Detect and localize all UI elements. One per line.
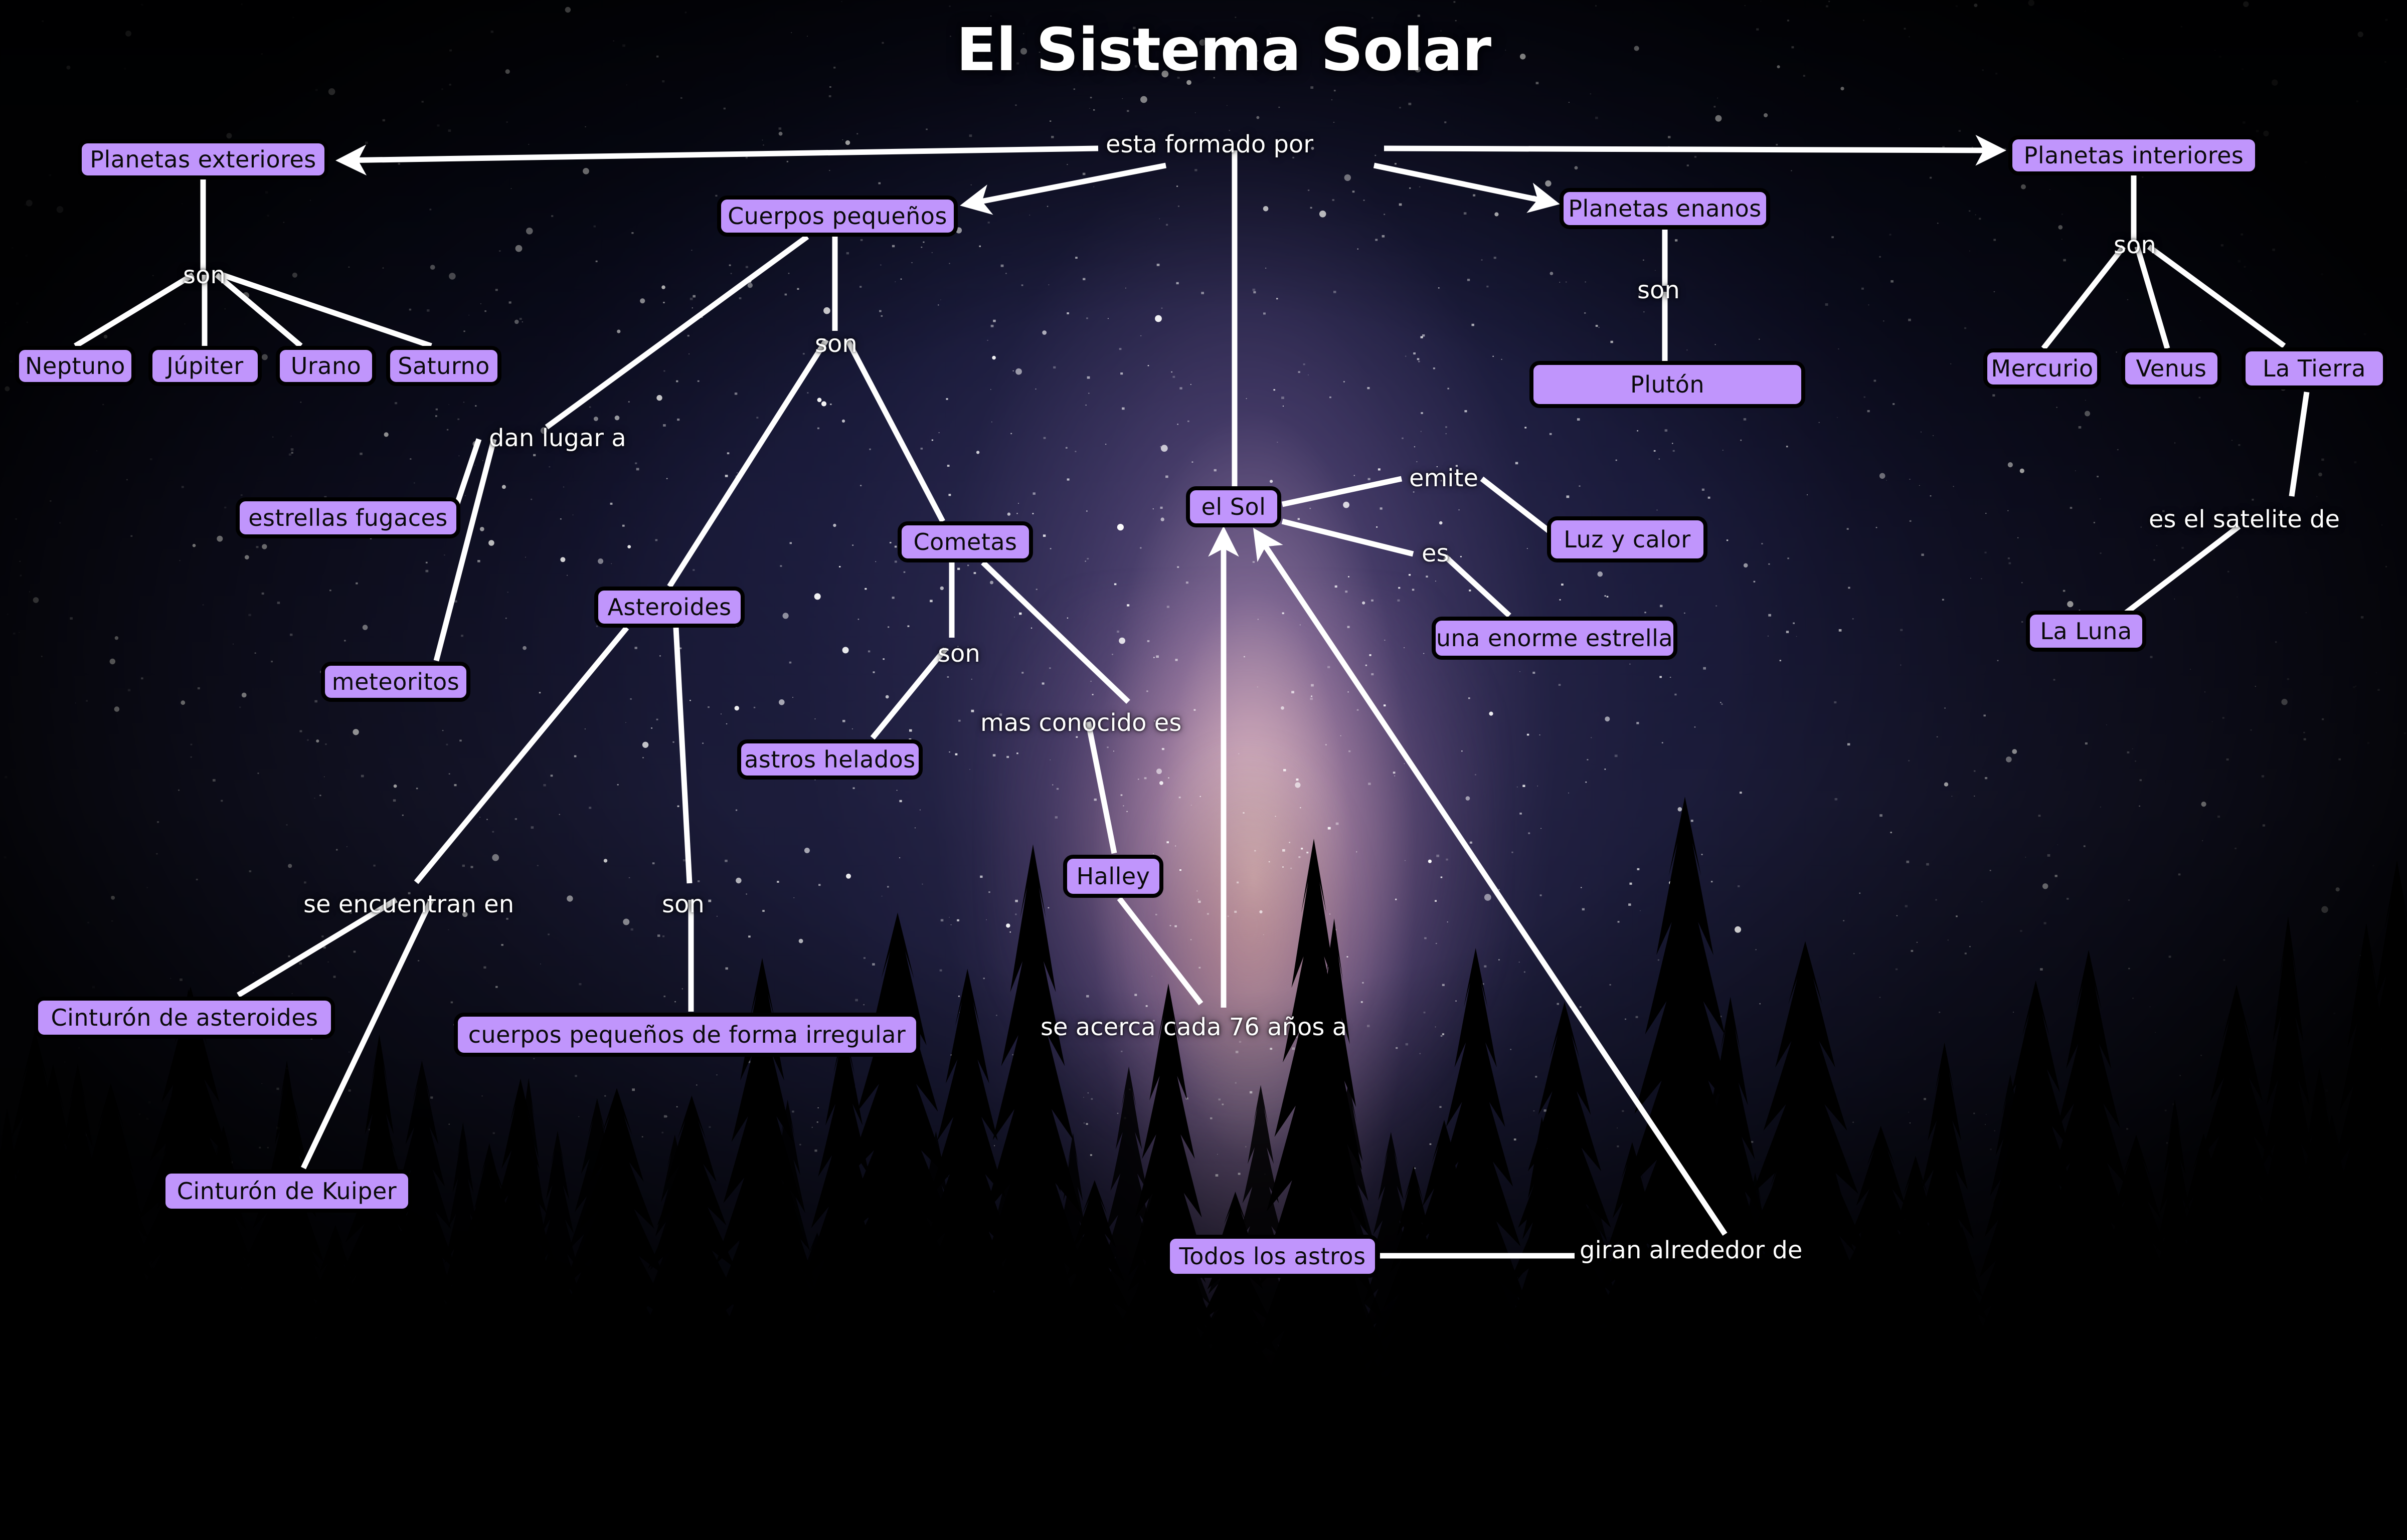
node-planetas_exteriores[interactable]: Planetas exteriores — [78, 139, 328, 179]
node-label: Júpiter — [166, 354, 243, 377]
node-label: Planetas enanos — [1568, 197, 1761, 220]
node-meteoritos[interactable]: meteoritos — [321, 662, 470, 702]
node-halley[interactable]: Halley — [1063, 855, 1163, 898]
node-una_enorme_estrella[interactable]: una enorme estrella — [1432, 617, 1677, 660]
node-astros_helados[interactable]: astros helados — [737, 739, 923, 780]
node-label: La Luna — [2040, 620, 2132, 643]
node-label: Planetas interiores — [2024, 144, 2244, 167]
node-label: Venus — [2136, 357, 2207, 380]
link-label-son_enanos: son — [1637, 278, 1680, 302]
node-la_tierra[interactable]: La Tierra — [2242, 347, 2387, 390]
link-label-son_cuerpos: son — [815, 332, 857, 356]
concept-map-canvas: El Sistema Solar Planetas exterioresCuer… — [0, 0, 2407, 1540]
node-pluton[interactable]: Plutón — [1529, 361, 1805, 408]
node-label: Saturno — [398, 354, 489, 377]
node-label: Planetas exteriores — [90, 148, 316, 171]
node-todos_los_astros[interactable]: Todos los astros — [1166, 1235, 1379, 1278]
link-label-emite: emite — [1409, 466, 1478, 490]
node-venus[interactable]: Venus — [2121, 348, 2221, 389]
node-label: una enorme estrella — [1436, 627, 1673, 650]
node-cometas[interactable]: Cometas — [898, 521, 1033, 562]
link-label-giran_alrededor_de: giran alrededor de — [1580, 1238, 1802, 1262]
node-cinturon_kuiper[interactable]: Cinturón de Kuiper — [161, 1170, 412, 1213]
node-asteroides[interactable]: Asteroides — [594, 587, 745, 628]
node-label: el Sol — [1201, 495, 1266, 518]
node-neptuno[interactable]: Neptuno — [15, 346, 135, 386]
node-label: Urano — [291, 354, 362, 377]
node-label: Mercurio — [1991, 357, 2093, 380]
node-estrellas_fugaces[interactable]: estrellas fugaces — [236, 497, 460, 538]
node-cuerpos_pequenos[interactable]: Cuerpos pequeños — [717, 196, 958, 237]
node-label: estrellas fugaces — [248, 506, 448, 529]
link-label-son_cometas: son — [938, 642, 980, 666]
node-label: Luz y calor — [1564, 528, 1690, 551]
node-label: Todos los astros — [1179, 1245, 1365, 1268]
node-planetas_interiores[interactable]: Planetas interiores — [2008, 135, 2259, 175]
link-label-esta_formado_por: esta formado por — [1106, 132, 1313, 156]
link-label-son_exteriores: son — [183, 263, 226, 287]
node-label: astros helados — [744, 748, 916, 771]
node-label: Halley — [1077, 865, 1150, 888]
link-label-son_asteroides: son — [662, 892, 705, 916]
node-el_sol[interactable]: el Sol — [1186, 486, 1281, 527]
link-label-se_encuentran_en: se encuentran en — [303, 892, 514, 916]
node-cinturon_asteroides[interactable]: Cinturón de asteroides — [34, 997, 335, 1039]
page-title: El Sistema Solar — [893, 15, 1555, 84]
node-jupiter[interactable]: Júpiter — [148, 346, 262, 386]
node-label: meteoritos — [332, 670, 459, 693]
node-label: La Tierra — [2263, 357, 2366, 380]
link-label-dan_lugar_a: dan lugar a — [489, 426, 626, 450]
node-label: cuerpos pequeños de forma irregular — [468, 1023, 906, 1046]
node-mercurio[interactable]: Mercurio — [1983, 348, 2101, 389]
node-urano[interactable]: Urano — [276, 346, 376, 386]
link-label-es: es — [1422, 541, 1449, 565]
link-label-se_acerca_76: se acerca cada 76 años a — [1041, 1015, 1347, 1039]
link-label-mas_conocido_es: mas conocido es — [980, 711, 1181, 735]
node-planetas_enanos[interactable]: Planetas enanos — [1560, 188, 1770, 229]
node-label: Cinturón de asteroides — [51, 1006, 318, 1029]
link-label-es_el_satelite_de: es el satelite de — [2149, 507, 2340, 531]
node-saturno[interactable]: Saturno — [386, 346, 501, 386]
node-label: Cometas — [913, 530, 1017, 553]
space-background — [0, 0, 2407, 1540]
node-label: Plutón — [1630, 373, 1704, 396]
node-label: Neptuno — [25, 354, 125, 377]
node-cuerpos_irregulares[interactable]: cuerpos pequeños de forma irregular — [454, 1013, 920, 1057]
node-label: Cinturón de Kuiper — [177, 1180, 397, 1203]
node-label: Cuerpos pequeños — [728, 205, 947, 228]
node-label: Asteroides — [607, 596, 731, 619]
node-la_luna[interactable]: La Luna — [2026, 611, 2146, 652]
link-label-son_interiores: son — [2114, 233, 2156, 257]
node-luz_y_calor[interactable]: Luz y calor — [1547, 516, 1707, 562]
